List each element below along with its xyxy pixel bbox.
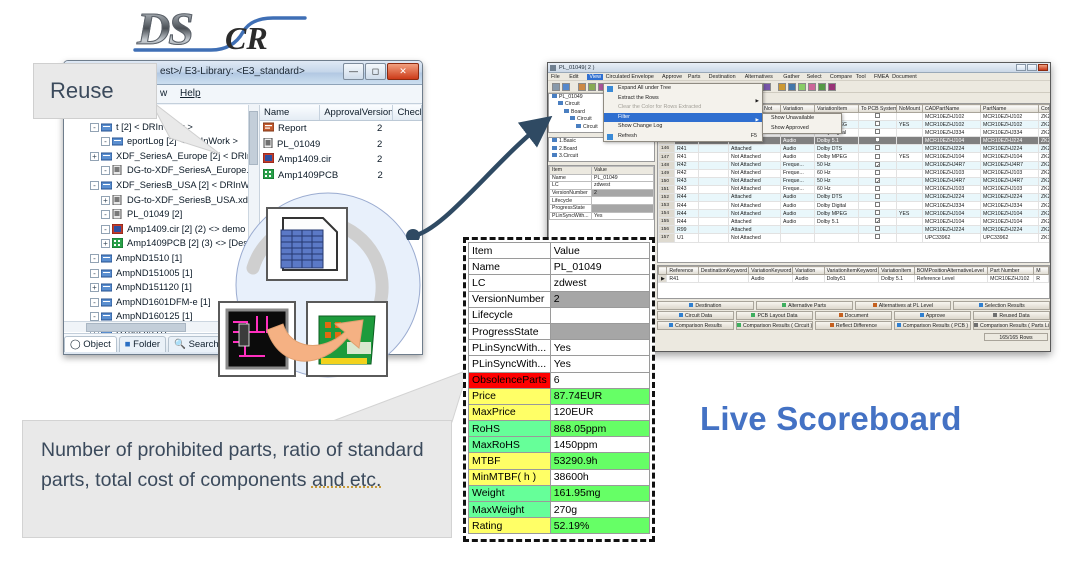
binoculars-icon: 🔍 — [174, 339, 186, 350]
to-pcb-checkbox[interactable] — [875, 113, 880, 118]
tree-expander[interactable]: - — [90, 181, 99, 190]
menu-item-filter[interactable]: Filter▶ — [604, 113, 762, 123]
pcb-icon — [263, 169, 274, 182]
doc-blue-icon — [112, 136, 124, 147]
grid-cell-alternatives — [699, 226, 729, 234]
tree-item-label: AmpND151005 [1] — [116, 268, 193, 278]
property-value: PL_01049 — [592, 174, 654, 182]
scoreboard-value: 38600h — [550, 469, 649, 485]
submenu-item-show-approved[interactable]: Show Approved — [763, 124, 841, 134]
scoreboard-item: ObsolenceParts — [469, 372, 551, 388]
right-window-buttons[interactable] — [1016, 64, 1048, 71]
grid-row[interactable]: 151R43Not AttachedFreque...60 HzMCR10EZH… — [659, 185, 1051, 193]
grid-row[interactable]: 155R44AttachedAudioDolby 5.1✓MCR10EZHJ10… — [659, 218, 1051, 226]
document-icon — [839, 313, 843, 317]
scoreboard-item: Price — [469, 388, 551, 404]
right-minimize-button[interactable] — [1016, 64, 1026, 71]
maximize-button[interactable]: ◻ — [365, 63, 386, 80]
doc-blue-icon — [101, 122, 113, 133]
grid-cell-nomount: YES — [897, 210, 923, 218]
rmenu-parts[interactable]: Parts — [688, 74, 701, 80]
grid-cell-topcb: ✓ — [859, 218, 897, 226]
grid-cell-alternatives — [699, 202, 729, 210]
toolbar-button-20[interactable] — [763, 83, 771, 91]
property-row[interactable]: PLinSyncWith...Yes — [550, 212, 654, 220]
property-row[interactable]: LCzdwest — [550, 182, 654, 190]
grid-cell-variation — [781, 234, 815, 242]
grid-row[interactable]: 148R42Not AttachedFreque...50 Hz✓MCR10EZ… — [659, 161, 1051, 169]
tree-expander[interactable]: - — [101, 137, 110, 146]
submenu-item-show-unavailable[interactable]: Show Unavailable — [763, 114, 841, 124]
tree-expander[interactable]: + — [90, 152, 99, 161]
scoreboard-row[interactable]: Rating52.19% — [469, 518, 650, 534]
bottom-tab-label: Destination — [695, 303, 721, 309]
grid-col-partname[interactable]: PartName — [981, 105, 1039, 113]
doc-blue-icon — [101, 268, 113, 279]
grid-cell-alternatives — [699, 193, 729, 201]
grid-row[interactable]: 146R41AttachedAudioDolby DTSMCR10EZHJ224… — [659, 145, 1051, 153]
grid-cell-topcb — [859, 185, 897, 193]
detail-col-variationkeyword[interactable]: VariationKeyword — [749, 267, 793, 275]
rtree-label: Board — [571, 109, 585, 115]
scoreboard-value: PL_01049 — [550, 259, 649, 275]
grid-cell-variation: Freque... — [781, 185, 815, 193]
scoreboard-row[interactable]: LCzdwest — [469, 275, 650, 291]
grid-col-cadpartname[interactable]: CADPartName — [923, 105, 981, 113]
pg-col-item: Item — [550, 167, 592, 175]
scoreboard-value: Yes — [550, 340, 649, 356]
grid-cell-nomount — [897, 185, 923, 193]
grid-row[interactable]: 153R44Not AttachedAudioDolby DigitalMCR1… — [659, 202, 1051, 210]
to-pcb-checkbox[interactable] — [875, 154, 880, 159]
grid-cell-cadpartname: MCR10EZHJ334 — [923, 129, 981, 137]
detail-cell-reference: R41 — [667, 275, 698, 283]
rmenu-edit[interactable]: Edit — [569, 74, 578, 80]
file-gray-icon — [112, 165, 124, 176]
scoreboard-col-value: Value — [550, 243, 649, 259]
toolbar-button-21[interactable] — [778, 83, 786, 91]
rmenu-destination[interactable]: Destination — [709, 74, 736, 80]
scoreboard-row[interactable]: MaxWeight270g — [469, 502, 650, 518]
bottom-tab-selection-results[interactable]: Selection Results — [953, 301, 1050, 310]
rtree-icon — [576, 124, 581, 128]
toolbar-button-2[interactable] — [562, 83, 570, 91]
doc-blue-icon — [101, 151, 113, 162]
bottom-tab-groups[interactable]: DestinationAlternative PartsAlternatives… — [657, 301, 1050, 331]
right-close-button[interactable] — [1038, 64, 1048, 71]
detail-col-part-number[interactable]: Part Number — [988, 267, 1034, 275]
bottom-tab-label: Comparison Results ( Parts List ) — [980, 323, 1050, 329]
menu-item-show-change-log[interactable]: Show Change Log — [604, 122, 762, 132]
detail-cell-m: R — [1034, 275, 1049, 283]
grid-cell-rownum: 149 — [659, 169, 675, 177]
grid-cell-topcb — [859, 202, 897, 210]
right-window-menubar[interactable]: FileEditViewCirculated EnvelopeApprovePa… — [548, 73, 1050, 81]
grid-cell-topcb — [859, 145, 897, 153]
rtree-icon — [570, 116, 575, 120]
to-pcb-checkbox[interactable] — [875, 194, 880, 199]
tree-expander[interactable]: + — [101, 196, 110, 205]
bottom-tab-comparison-results-circuit[interactable]: Comparison Results ( Circuit ) — [736, 321, 813, 330]
logo-ds-text: DS — [137, 2, 192, 55]
grid-cell-cadpartname: MCR10EZHJ224 — [923, 226, 981, 234]
tree-expander[interactable]: - — [101, 166, 110, 175]
grid-cell-reference: R41 — [675, 145, 699, 153]
grid-row[interactable]: 157U1Not AttachedUPC33962UPC33962ZK14SUP… — [659, 234, 1051, 242]
grid-cell-rownum: 154 — [659, 210, 675, 218]
grid-cell-cadpartname: MCR10EZHJ103 — [923, 185, 981, 193]
rtree-label: PL_01049 — [559, 94, 583, 100]
grid-cell-topcb — [859, 226, 897, 234]
bottom-tab-destination[interactable]: Destination — [657, 301, 754, 310]
grid-cell-rownum: 146 — [659, 145, 675, 153]
toolbar-button-22[interactable] — [788, 83, 796, 91]
destination-icon — [689, 303, 693, 307]
scoreboard-item: MaxPrice — [469, 404, 551, 420]
to-pcb-checkbox[interactable] — [875, 145, 880, 150]
grid-cell-cadpartname: MCR10EZHJ224 — [923, 193, 981, 201]
scoreboard-row[interactable]: PLinSyncWith...Yes — [469, 340, 650, 356]
grid-cell-variationitem: Dolby Digital — [815, 202, 859, 210]
bottom-tab-label: Reflect Difference — [836, 323, 877, 329]
structure-label: 3.Circuit — [559, 153, 578, 159]
bottom-tab-approve[interactable]: Approve — [894, 311, 971, 320]
grid-col-nomount[interactable]: NoMount — [897, 105, 923, 113]
grid-cell-topcb — [859, 169, 897, 177]
scoreboard-item: Weight — [469, 485, 551, 501]
grid-cell-component: ZK2SMCR10 — [1039, 210, 1051, 218]
grid-cell-attached: Not Attached — [729, 202, 781, 210]
scoreboard-row[interactable]: PLinSyncWith...Yes — [469, 356, 650, 372]
rmenu-tool[interactable]: Tool — [856, 74, 866, 80]
grid-cell-variation: Audio — [781, 210, 815, 218]
right-window-titlebar[interactable]: PL_01049( 2 ) — [548, 63, 1050, 73]
scoreboard-row[interactable]: MaxPrice120EUR — [469, 404, 650, 420]
grid-cell-variation: Freque... — [781, 177, 815, 185]
grid-cell-cadpartname: MCR10EZHJ4R7 — [923, 161, 981, 169]
doc-blue-icon — [101, 253, 113, 264]
structure-label: 2.Board — [559, 146, 577, 152]
menu-item-clear-the-color-for-rows-extracted[interactable]: Clear the Color for Rows Extracted — [604, 103, 762, 113]
scoreboard-row[interactable]: MaxRoHS1450ppm — [469, 437, 650, 453]
property-row[interactable]: Lifecycle — [550, 197, 654, 205]
grid-cell-cadpartname: MCR10EZHJ224 — [923, 145, 981, 153]
app-icon — [550, 65, 556, 71]
scoreboard-item: RoHS — [469, 421, 551, 437]
reuse-callout: Reuse — [33, 63, 157, 119]
grid-cell-nomount — [897, 226, 923, 234]
bottom-tab-document[interactable]: Document — [815, 311, 892, 320]
structure-label: 1.Basic — [559, 138, 576, 144]
menu-help[interactable]: Help — [180, 88, 201, 99]
to-pcb-checkbox[interactable] — [875, 234, 880, 239]
property-item: VersionNumber — [550, 189, 592, 197]
grid-cell-nomount — [897, 177, 923, 185]
rmenu-document[interactable]: Document — [892, 74, 917, 80]
grid-cell-variation: Audio — [781, 218, 815, 226]
grid-cell-rownum: 152 — [659, 193, 675, 201]
scoreboard-value: 52.19% — [550, 518, 649, 534]
scoreboard-row[interactable]: Lifecycle — [469, 307, 650, 323]
rtree-icon — [564, 109, 569, 113]
grid-cell-reference: U1 — [675, 234, 699, 242]
property-row[interactable]: VersionNumber2 — [550, 189, 654, 197]
property-value: zdwest — [592, 182, 654, 190]
left-window-buttons[interactable]: — ◻ ✕ — [343, 63, 419, 80]
property-row[interactable]: ProgressState — [550, 204, 654, 212]
scoreboard-row[interactable]: Weight161.95mg — [469, 485, 650, 501]
detail-cell-selector: ▶ — [659, 275, 667, 283]
tree-expander[interactable]: + — [101, 239, 110, 248]
scoreboard-row[interactable]: ObsolenceParts6 — [469, 372, 650, 388]
to-pcb-checkbox[interactable] — [875, 121, 880, 126]
toolbar-button-26[interactable] — [828, 83, 836, 91]
rmenu-fmea[interactable]: FMEA — [874, 74, 889, 80]
scoreboard-item: Rating — [469, 518, 551, 534]
grid-cell-variationitem: Dolby MPEG — [815, 153, 859, 161]
tab-object[interactable]: ◯ Object — [64, 336, 117, 352]
grid-cell-attached: Attached — [729, 145, 781, 153]
menu-item-refresh[interactable]: RefreshF5 — [604, 132, 762, 142]
toolbar-button-4[interactable] — [588, 83, 596, 91]
pcb-green-icon — [112, 238, 124, 249]
scoreboard-header-row: Item Value — [469, 243, 650, 259]
detail-col-variationitemkeyword[interactable]: VariationItemKeyword — [824, 267, 879, 275]
grid-cell-nomount: YES — [897, 121, 923, 129]
scoreboard-row[interactable]: MinMTBF( h )38600h — [469, 469, 650, 485]
toolbar-button-3[interactable] — [578, 83, 586, 91]
bottom-tab-row: Comparison ResultsComparison Results ( C… — [657, 321, 1050, 330]
detail-grid[interactable]: ReferenceDestinationKeywordVariationKeyw… — [657, 265, 1050, 299]
scoreboard-row[interactable]: RoHS868.05ppm — [469, 421, 650, 437]
property-item: Lifecycle — [550, 197, 592, 205]
tree-expander[interactable]: - — [101, 210, 110, 219]
toolbar-button-25[interactable] — [818, 83, 826, 91]
view-menu-dropdown[interactable]: Expand All under TreeExtract the Rows▶Cl… — [603, 83, 763, 142]
grid-cell-variation: Freque... — [781, 161, 815, 169]
detail-col-selector — [659, 267, 667, 275]
grid-cell-cadpartname: MCR10EZHJ104 — [923, 153, 981, 161]
note-text-underlined: and etc. — [312, 469, 381, 491]
right-maximize-button[interactable] — [1027, 64, 1037, 71]
rtree-icon — [552, 94, 557, 98]
grid-col-to-pcb-system[interactable]: To PCB System — [859, 105, 897, 113]
bottom-tab-pcb-layout-data[interactable]: PCB Layout Data — [736, 311, 813, 320]
menu-item-label: Filter — [618, 114, 630, 120]
grid-cell-cadpartname: MCR10EZHJ104 — [923, 210, 981, 218]
toolbar-button-1[interactable] — [552, 83, 560, 91]
grid-cell-attached: Attached — [729, 226, 781, 234]
to-pcb-checkbox[interactable] — [875, 170, 880, 175]
alt-parts-icon — [782, 303, 786, 307]
filter-submenu[interactable]: Show UnavailableShow Approved — [762, 113, 842, 134]
grid-cell-component: ZK2SMCR10 — [1039, 177, 1051, 185]
grid-cell-topcb: ✓ — [859, 137, 897, 145]
grid-cell-reference: R42 — [675, 169, 699, 177]
selection-icon — [979, 303, 983, 307]
rmenu-circulated-envelope[interactable]: Circulated Envelope — [606, 74, 654, 80]
rmenu-compare[interactable]: Compare — [830, 74, 852, 80]
grid-row[interactable]: 154R44Not AttachedAudioDolby MPEGYESMCR1… — [659, 210, 1051, 218]
tab-folder[interactable]: ■ Folder — [119, 336, 166, 352]
property-row[interactable]: NamePL_01049 — [550, 174, 654, 182]
rmenu-select[interactable]: Select — [807, 74, 822, 80]
bottom-tab-comparison-results[interactable]: Comparison Results — [657, 321, 734, 330]
grid-row[interactable]: 156R99AttachedMCR10EZHJ224MCR10EZHJ224ZK… — [659, 226, 1051, 234]
scoreboard-value: 6 — [550, 372, 649, 388]
grid-cell-reference: R44 — [675, 193, 699, 201]
grid-col-component[interactable]: Component — [1039, 105, 1051, 113]
detail-cell-destkw — [698, 275, 748, 283]
to-pcb-checkbox[interactable]: ✓ — [875, 137, 880, 142]
grid-cell-nomount — [897, 234, 923, 242]
grid-cell-nomount — [897, 161, 923, 169]
grid-cell-cadpartname: MCR10EZHJ4R7 — [923, 177, 981, 185]
to-pcb-checkbox[interactable]: ✓ — [875, 218, 880, 223]
grid-cell-topcb — [859, 153, 897, 161]
tree-expander[interactable]: + — [90, 283, 99, 292]
scoreboard-row[interactable]: VersionNumber2 — [469, 291, 650, 307]
menu-view[interactable]: w — [160, 88, 167, 99]
tree-expander[interactable]: - — [101, 225, 110, 234]
tab-object-label: Object — [83, 339, 110, 350]
scoreboard-row[interactable]: NamePL_01049 — [469, 259, 650, 275]
scoreboard-item: PLinSyncWith... — [469, 356, 551, 372]
tree-hscroll-thumb[interactable] — [86, 323, 186, 332]
structure-item[interactable]: 2.Board — [549, 146, 654, 154]
grid-cell-alternatives — [699, 145, 729, 153]
bottom-tab-alternative-parts[interactable]: Alternative Parts — [756, 301, 853, 310]
grid-cell-topcb — [859, 129, 897, 137]
grid-cell-partname: MCR10EZHJ104 — [981, 153, 1039, 161]
to-pcb-checkbox[interactable] — [875, 202, 880, 207]
grid-cell-attached: Not Attached — [729, 210, 781, 218]
bottom-tab-reused-data[interactable]: Reused Data — [973, 311, 1050, 320]
property-item: LC — [550, 182, 592, 190]
grid-cell-alternatives — [699, 185, 729, 193]
bottom-tab-label: Comparison Results ( PCB ) — [903, 323, 968, 329]
connector-arrow — [295, 100, 555, 240]
grid-cell-partname: MCR10EZHJ334 — [981, 129, 1039, 137]
grid-cell-rownum: 157 — [659, 234, 675, 242]
grid-cell-alternatives — [699, 161, 729, 169]
toolbar-button-24[interactable] — [808, 83, 816, 91]
detail-col-m[interactable]: M — [1034, 267, 1049, 275]
rmenu-file[interactable]: File — [551, 74, 560, 80]
rmenu-alternatives[interactable]: Alternatives — [745, 74, 773, 80]
grid-col-variation[interactable]: Variation — [781, 105, 815, 113]
bottom-tab-comparison-results-parts-list[interactable]: Comparison Results ( Parts List ) — [973, 321, 1050, 330]
refresh-icon — [607, 134, 613, 140]
rmenu-view[interactable]: View — [587, 74, 603, 80]
menu-item-expand-all-under-tree[interactable]: Expand All under Tree — [604, 84, 762, 94]
detail-col-variation[interactable]: Variation — [793, 267, 824, 275]
left-window-title: est>/ E3-Library: <E3_standard> — [160, 66, 305, 77]
scoreboard-value: 270g — [550, 502, 649, 518]
detail-row[interactable]: ▶R41AudioAudioDolby51Dolby 5.1Reference … — [659, 275, 1049, 283]
bottom-tab-circuit-data[interactable]: Circuit Data — [657, 311, 734, 320]
to-pcb-checkbox[interactable] — [875, 186, 880, 191]
logo-cr-text: CR — [225, 20, 268, 57]
folder-icon: ■ — [125, 339, 131, 350]
scoreboard-row[interactable]: ProgressState — [469, 323, 650, 339]
tree-expander[interactable]: - — [90, 254, 99, 263]
grid-cell-variationitem: Dolby 5.1 — [815, 137, 859, 145]
scoreboard-table[interactable]: Item Value NamePL_01049LCzdwestVersionNu… — [463, 237, 655, 542]
bottom-tab-alternatives-at-pl-level[interactable]: Alternatives at PL Level — [855, 301, 952, 310]
grid-row[interactable]: 149R42Not AttachedFreque...60 HzMCR10EZH… — [659, 169, 1051, 177]
grid-row[interactable]: 152R44AttachedAudioDolby DTSMCR10EZHJ224… — [659, 193, 1051, 201]
scoreboard-item: ProgressState — [469, 323, 551, 339]
grid-col-variationitem[interactable]: VariationItem — [815, 105, 859, 113]
to-pcb-checkbox[interactable]: ✓ — [875, 162, 880, 167]
bottom-tab-label: Document — [845, 313, 869, 319]
to-pcb-checkbox[interactable]: ✓ — [875, 178, 880, 183]
grid-cell-component: ZK14SUPC3 — [1039, 234, 1051, 242]
structure-item[interactable]: 3.Circuit — [549, 153, 654, 161]
detail-col-destinationkeyword[interactable]: DestinationKeyword — [698, 267, 748, 275]
grid-cell-topcb — [859, 121, 897, 129]
tree-expander[interactable]: - — [90, 123, 99, 132]
detail-cell-partnumber: MCR10EZHJ102 — [988, 275, 1034, 283]
grid-cell-rownum: 155 — [659, 218, 675, 226]
grid-cell-partname: MCR10EZHJ334 — [981, 202, 1039, 210]
menu-item-extract-the-rows[interactable]: Extract the Rows▶ — [604, 94, 762, 104]
tree-expander[interactable]: - — [90, 269, 99, 278]
grid-cell-topcb: ✓ — [859, 161, 897, 169]
grid-cell-reference: R44 — [675, 210, 699, 218]
compare-icon — [897, 323, 901, 327]
scoreboard-row[interactable]: MTBF53290.9h — [469, 453, 650, 469]
detail-col-bompositionalternativelevel[interactable]: BOMPositionAlternativeLevel — [914, 267, 987, 275]
scoreboard-row[interactable]: Price87.74EUR — [469, 388, 650, 404]
property-value — [592, 197, 654, 205]
toolbar-button-23[interactable] — [798, 83, 806, 91]
minimize-button[interactable]: — — [343, 63, 364, 80]
bottom-tab-comparison-results-pcb[interactable]: Comparison Results ( PCB ) — [894, 321, 971, 330]
approve-icon — [920, 313, 924, 317]
close-button[interactable]: ✕ — [387, 63, 419, 80]
detail-grid-header: ReferenceDestinationKeywordVariationKeyw… — [659, 267, 1049, 275]
compare-icon — [974, 323, 978, 327]
grid-cell-topcb — [859, 210, 897, 218]
detail-col-reference[interactable]: Reference — [667, 267, 698, 275]
detail-col-variationitem[interactable]: VariationItem — [879, 267, 915, 275]
grid-cell-cadpartname: UPC33962 — [923, 234, 981, 242]
grid-cell-attached: Not Attached — [729, 153, 781, 161]
grid-row[interactable]: 150R43Not AttachedFreque...50 Hz✓MCR10EZ… — [659, 177, 1051, 185]
to-pcb-checkbox[interactable] — [875, 210, 880, 215]
grid-row[interactable]: 147R41Not AttachedAudioDolby MPEGYESMCR1… — [659, 153, 1051, 161]
grid-cell-alternatives — [699, 210, 729, 218]
rmenu-approve[interactable]: Approve — [662, 74, 682, 80]
tab-folder-label: Folder — [133, 339, 160, 350]
scoreboard-value: 161.95mg — [550, 485, 649, 501]
to-pcb-checkbox[interactable] — [875, 226, 880, 231]
bottom-tab-label: Approve — [926, 313, 945, 319]
grid-cell-alternatives — [699, 169, 729, 177]
bottom-tab-reflect-difference[interactable]: Reflect Difference — [815, 321, 892, 330]
grid-cell-variationitem: Dolby 5.1 — [815, 218, 859, 226]
scoreboard-col-item: Item — [469, 243, 551, 259]
grid-cell-topcb — [859, 234, 897, 242]
grid-cell-topcb: ✓ — [859, 177, 897, 185]
rmenu-gather[interactable]: Gather — [783, 74, 799, 80]
tree-expander[interactable]: - — [90, 298, 99, 307]
to-pcb-checkbox[interactable] — [875, 129, 880, 134]
scoreboard-item: MaxWeight — [469, 502, 551, 518]
grid-cell-variationitem: 50 Hz — [815, 177, 859, 185]
